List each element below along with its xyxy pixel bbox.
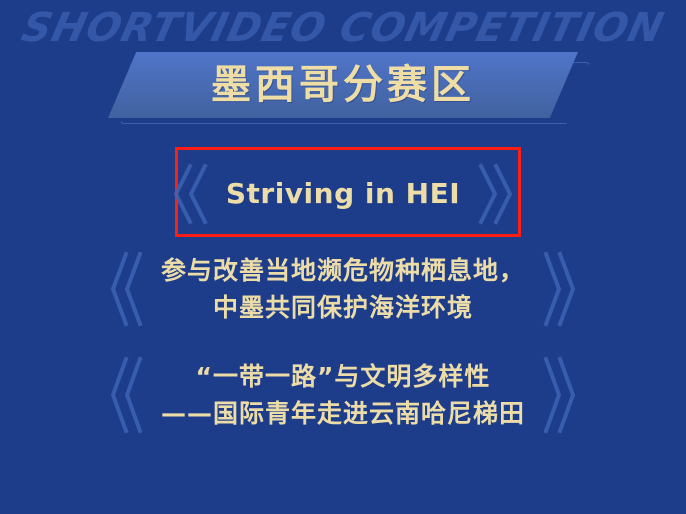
double-chevron-left-icon	[172, 162, 208, 226]
watermark-text: SHORTVIDEO COMPETITION	[8, 8, 677, 48]
double-chevron-right-icon	[543, 355, 577, 435]
body-block-2-text: “一带一路”与文明多样性 ——国际青年走进云南哈尼梯田	[161, 358, 525, 433]
page-title: 墨西哥分赛区	[211, 65, 475, 105]
double-chevron-right-icon	[543, 250, 577, 328]
double-chevron-left-icon	[109, 355, 143, 435]
body-block-2: “一带一路”与文明多样性 ——国际青年走进云南哈尼梯田	[0, 355, 686, 435]
body-block-1-text: 参与改善当地濒危物种栖息地， 中墨共同保护海洋环境	[161, 252, 525, 327]
header-banner: 墨西哥分赛区	[108, 52, 578, 120]
double-chevron-left-icon	[109, 250, 143, 328]
body-block-1: 参与改善当地濒危物种栖息地， 中墨共同保护海洋环境	[0, 250, 686, 328]
presentation-slide: SHORTVIDEO COMPETITION 墨西哥分赛区 Striving i…	[0, 0, 686, 514]
header-banner-shape: 墨西哥分赛区	[108, 52, 578, 118]
title-block-text: Striving in HEI	[226, 177, 460, 211]
title-block: Striving in HEI	[0, 162, 686, 226]
double-chevron-right-icon	[478, 162, 514, 226]
